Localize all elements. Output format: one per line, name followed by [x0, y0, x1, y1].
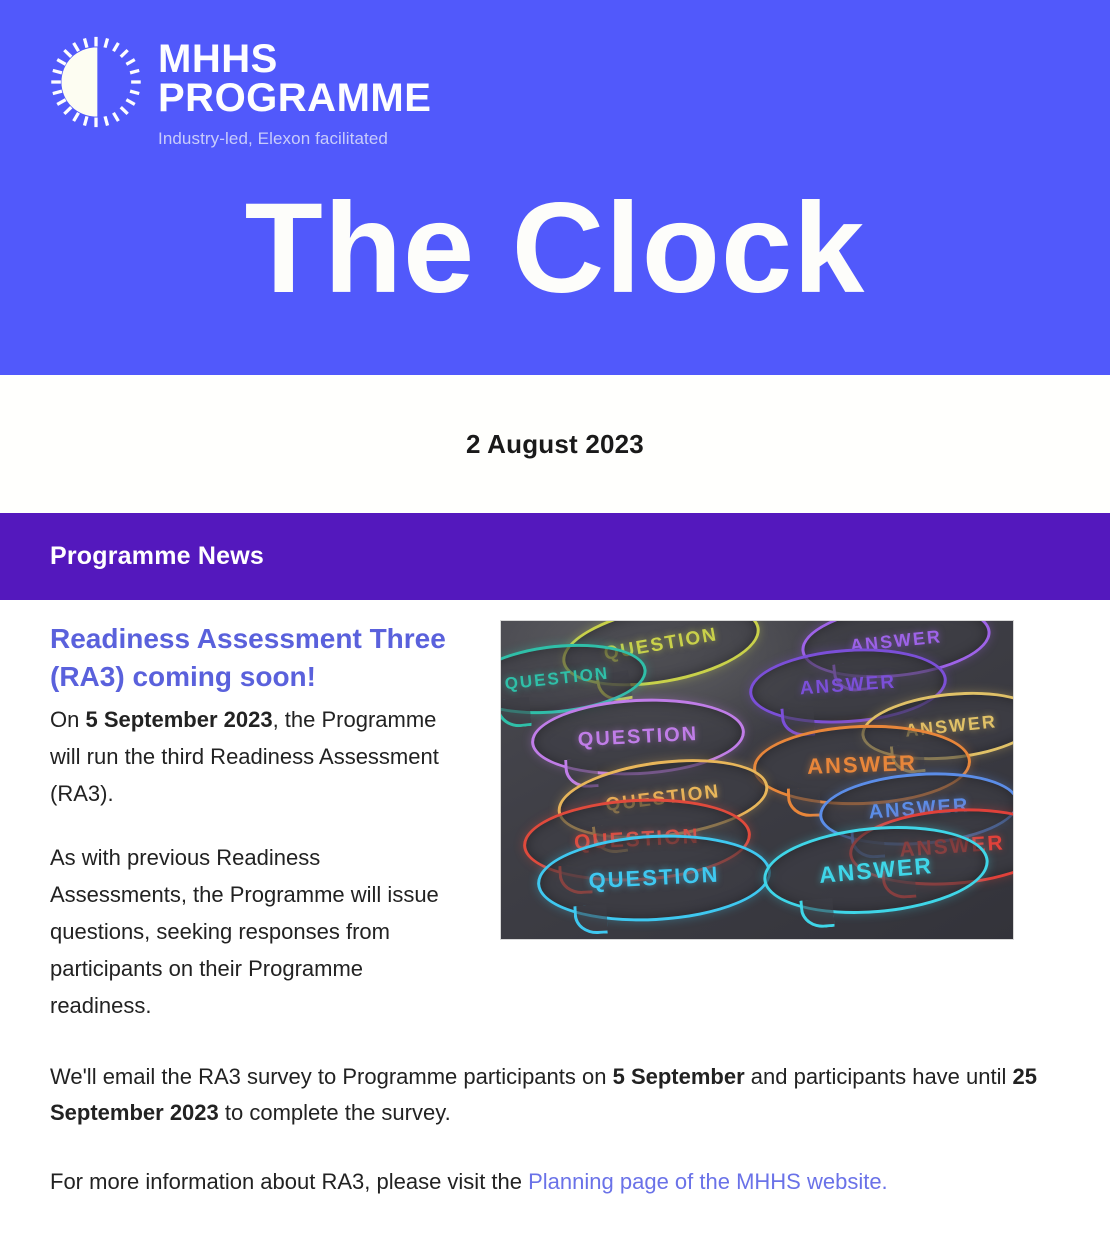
- article-text-column: Readiness Assessment Three (RA3) coming …: [50, 620, 500, 1025]
- section-header-label: Programme News: [50, 542, 264, 571]
- brand-line-2: PROGRAMME: [158, 79, 431, 118]
- planning-page-link[interactable]: Planning page of the MHHS website.: [528, 1169, 888, 1194]
- brand-lockup: MHHS PROGRAMME Industry-led, Elexon faci…: [48, 34, 431, 149]
- page-title: The Clock: [0, 185, 1110, 313]
- paragraph-3-post: to complete the survey.: [219, 1100, 451, 1125]
- article-paragraph-1: On 5 September 2023, the Programme will …: [50, 702, 460, 813]
- section-header-programme-news: Programme News: [0, 513, 1110, 600]
- speech-bubble-label: ANSWER: [799, 672, 897, 701]
- article-heading: Readiness Assessment Three (RA3) coming …: [50, 620, 460, 696]
- article-image-question-answer-bubbles: QUESTIONANSWERQUESTIONANSWERQUESTIONANSW…: [500, 620, 1014, 940]
- brand-tagline: Industry-led, Elexon facilitated: [158, 129, 431, 149]
- article-paragraph-2: As with previous Readiness Assessments, …: [50, 840, 460, 1025]
- paragraph-4-pre: For more information about RA3, please v…: [50, 1169, 528, 1194]
- speech-bubble-label: QUESTION: [504, 664, 610, 695]
- brand-wordmark: MHHS PROGRAMME Industry-led, Elexon faci…: [158, 34, 431, 149]
- paragraph-1-date: 5 September 2023: [85, 707, 272, 732]
- brand-line-1: MHHS: [158, 40, 431, 79]
- speech-bubble-label: ANSWER: [818, 852, 934, 889]
- speech-bubble-label: QUESTION: [577, 722, 698, 751]
- half-sun-clock-icon: [48, 34, 144, 130]
- paragraph-3-date-1: 5 September: [613, 1064, 745, 1089]
- paragraph-1-pre: On: [50, 707, 85, 732]
- article-paragraph-4: For more information about RA3, please v…: [50, 1164, 1060, 1200]
- article-paragraph-3: We'll email the RA3 survey to Programme …: [50, 1059, 1060, 1130]
- article-content: Readiness Assessment Three (RA3) coming …: [0, 600, 1110, 1200]
- paragraph-3-mid: and participants have until: [745, 1064, 1013, 1089]
- newsletter-page: MHHS PROGRAMME Industry-led, Elexon faci…: [0, 0, 1110, 1236]
- paragraph-3-pre: We'll email the RA3 survey to Programme …: [50, 1064, 613, 1089]
- date-strip: 2 August 2023: [0, 375, 1110, 513]
- header-banner: MHHS PROGRAMME Industry-led, Elexon faci…: [0, 0, 1110, 375]
- issue-date: 2 August 2023: [466, 429, 644, 460]
- article-top-row: Readiness Assessment Three (RA3) coming …: [50, 600, 1060, 1025]
- speech-bubble-label: QUESTION: [588, 862, 720, 895]
